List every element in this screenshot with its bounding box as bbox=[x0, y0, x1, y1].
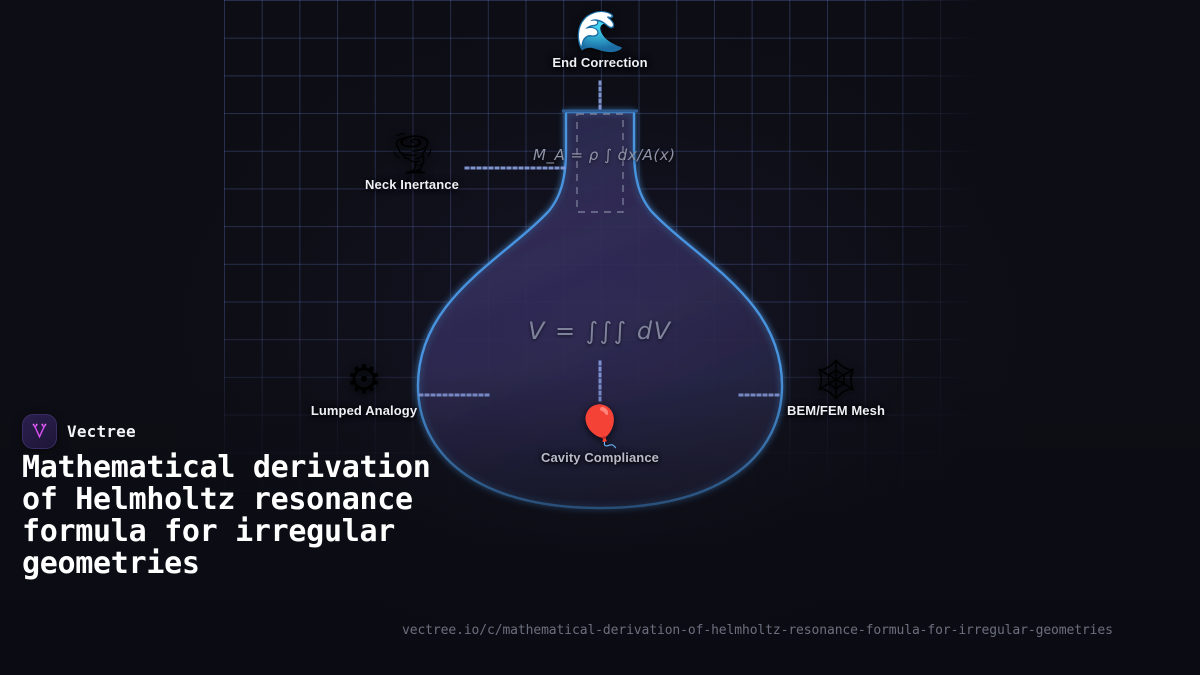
page-title: Mathematical derivation of Helmholtz res… bbox=[22, 452, 452, 580]
gear-icon: ⚙ bbox=[284, 358, 444, 402]
balloon-icon: 🎈 bbox=[520, 405, 680, 449]
node-neck-inertance[interactable]: 🌪 Neck Inertance bbox=[332, 132, 492, 192]
brand-name: Vectree bbox=[67, 422, 136, 441]
vectree-tree-icon bbox=[29, 421, 50, 442]
node-cavity-compliance[interactable]: 🎈 Cavity Compliance bbox=[520, 405, 680, 465]
node-end-correction-label: End Correction bbox=[520, 55, 680, 70]
node-lumped-analogy-label: Lumped Analogy bbox=[284, 403, 444, 418]
tornado-icon: 🌪 bbox=[332, 132, 492, 176]
footer-url: vectree.io/c/mathematical-derivation-of-… bbox=[402, 623, 1113, 638]
neck-inertance-formula: M_A = ρ ∫ dx/A(x) bbox=[533, 146, 675, 164]
wave-icon: 🌊 bbox=[520, 10, 680, 54]
node-cavity-compliance-label: Cavity Compliance bbox=[520, 450, 680, 465]
node-bem-fem-mesh-label: BEM/FEM Mesh bbox=[756, 403, 916, 418]
node-bem-fem-mesh[interactable]: 🕸 BEM/FEM Mesh bbox=[756, 358, 916, 418]
branding[interactable]: Vectree bbox=[22, 414, 136, 449]
vectree-logo bbox=[22, 414, 57, 449]
node-lumped-analogy[interactable]: ⚙ Lumped Analogy bbox=[284, 358, 444, 418]
node-end-correction[interactable]: 🌊 End Correction bbox=[520, 10, 680, 70]
cavity-volume-formula: V = ∫∫∫ dV bbox=[528, 317, 672, 345]
node-neck-inertance-label: Neck Inertance bbox=[332, 177, 492, 192]
spider-web-icon: 🕸 bbox=[756, 358, 916, 402]
